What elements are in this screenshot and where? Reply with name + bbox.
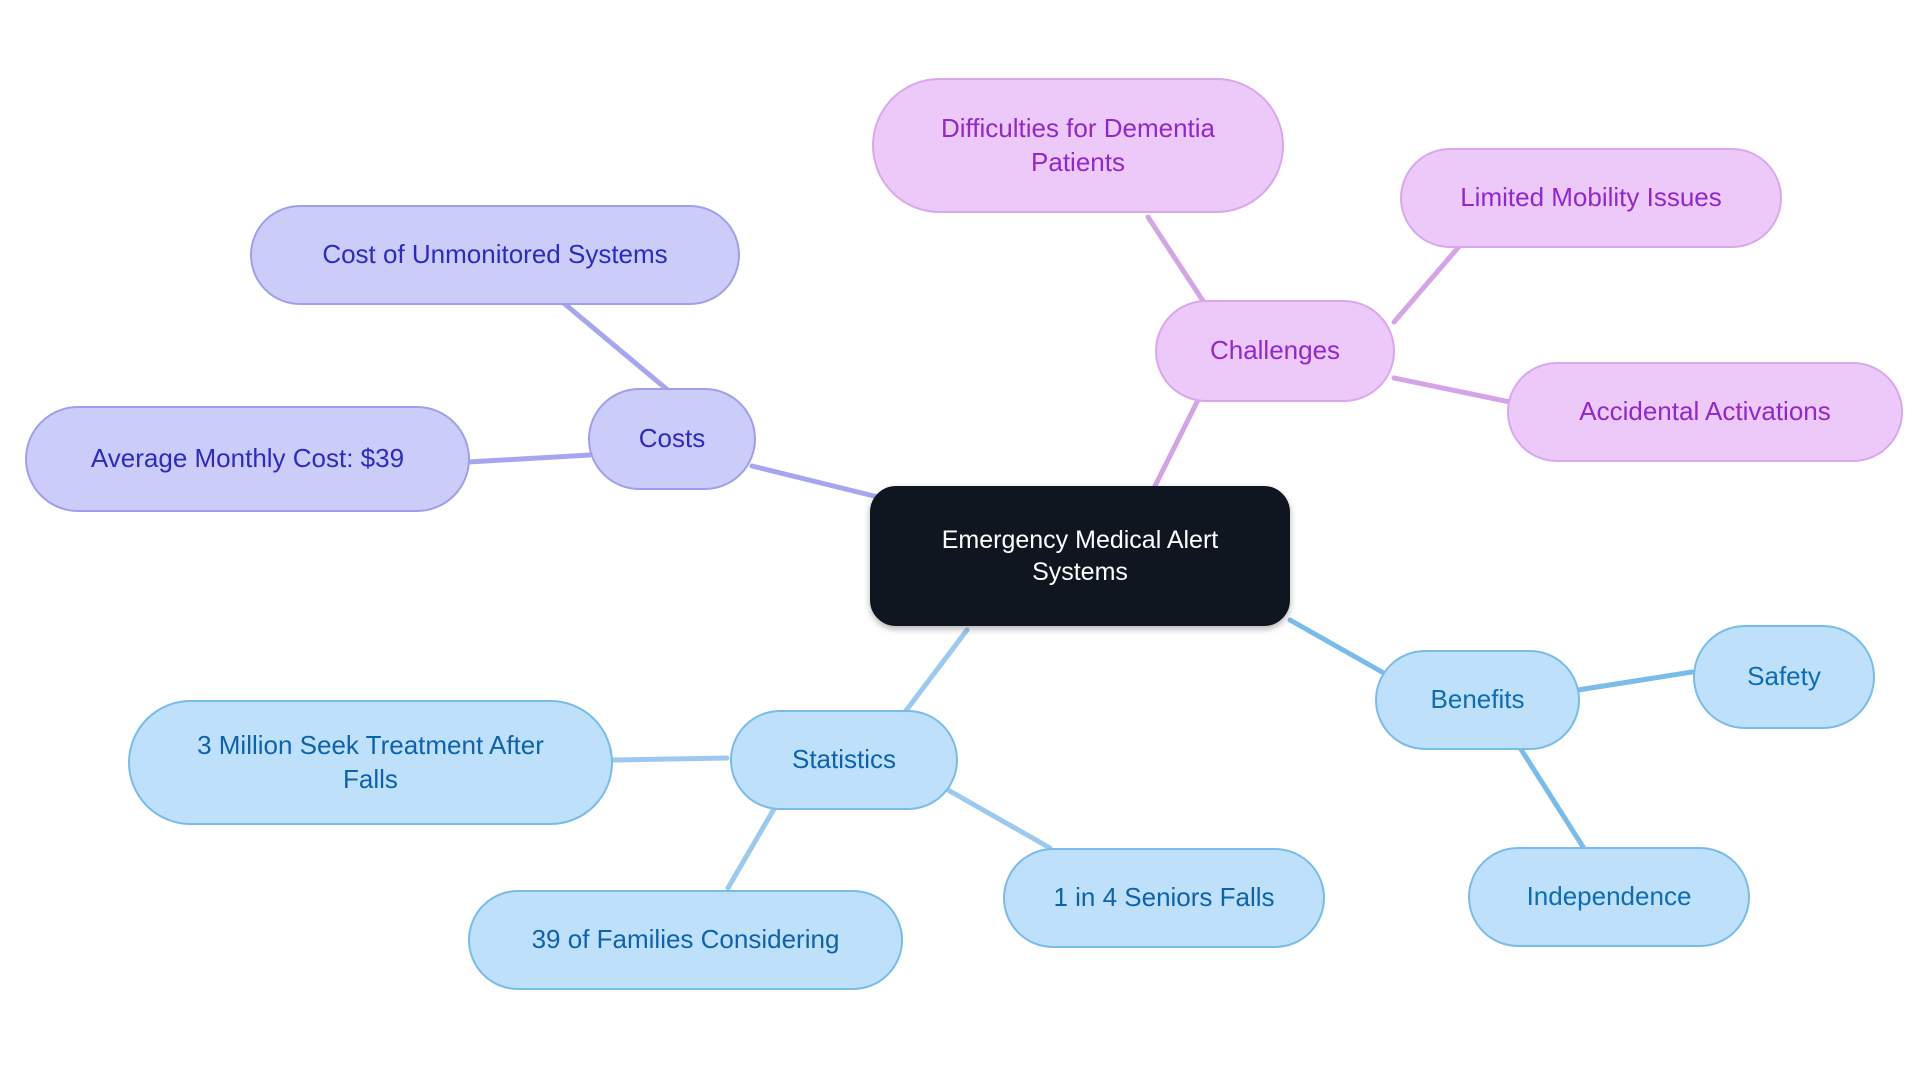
edge-costs-to-avg-monthly-cost xyxy=(468,455,590,462)
leaf-node-three-million-seek-treatment-after-falls[interactable]: 3 Million Seek Treatment After Falls xyxy=(128,700,613,825)
edge-benefits-to-independence xyxy=(1517,743,1585,850)
leaf-node-cost-of-unmonitored-systems[interactable]: Cost of Unmonitored Systems xyxy=(250,205,740,305)
edge-benefits-to-root xyxy=(1290,620,1382,672)
edge-costs-to-root xyxy=(752,466,878,497)
leaf-node-accidental-activations[interactable]: Accidental Activations xyxy=(1507,362,1903,462)
edge-challenges-to-dementia xyxy=(1148,217,1205,304)
leaf-node-safety[interactable]: Safety xyxy=(1693,625,1875,729)
leaf-node-39-of-families-considering[interactable]: 39 of Families Considering xyxy=(468,890,903,990)
leaf-node-average-monthly-cost[interactable]: Average Monthly Cost: $39 xyxy=(25,406,470,512)
branch-node-statistics[interactable]: Statistics xyxy=(730,710,958,810)
mindmap-canvas: Emergency Medical Alert Systems Costs Co… xyxy=(0,0,1920,1083)
branch-node-challenges[interactable]: Challenges xyxy=(1155,300,1395,402)
edge-costs-to-cost-unmonitored xyxy=(560,300,670,392)
leaf-node-1-in-4-seniors-falls[interactable]: 1 in 4 Seniors Falls xyxy=(1003,848,1325,948)
branch-node-benefits[interactable]: Benefits xyxy=(1375,650,1580,750)
leaf-node-independence[interactable]: Independence xyxy=(1468,847,1750,947)
edge-statistics-to-root xyxy=(905,630,967,712)
edge-benefits-to-safety xyxy=(1578,672,1692,690)
edge-challenges-to-accidental-activations xyxy=(1394,378,1510,402)
root-node[interactable]: Emergency Medical Alert Systems xyxy=(870,486,1290,626)
leaf-node-limited-mobility-issues[interactable]: Limited Mobility Issues xyxy=(1400,148,1782,248)
leaf-node-difficulties-for-dementia-patients[interactable]: Difficulties for Dementia Patients xyxy=(872,78,1284,213)
edge-statistics-to-one-in-four xyxy=(948,790,1050,848)
edge-statistics-to-three-million xyxy=(612,758,727,760)
edge-challenges-to-root xyxy=(1148,400,1198,500)
branch-node-costs[interactable]: Costs xyxy=(588,388,756,490)
